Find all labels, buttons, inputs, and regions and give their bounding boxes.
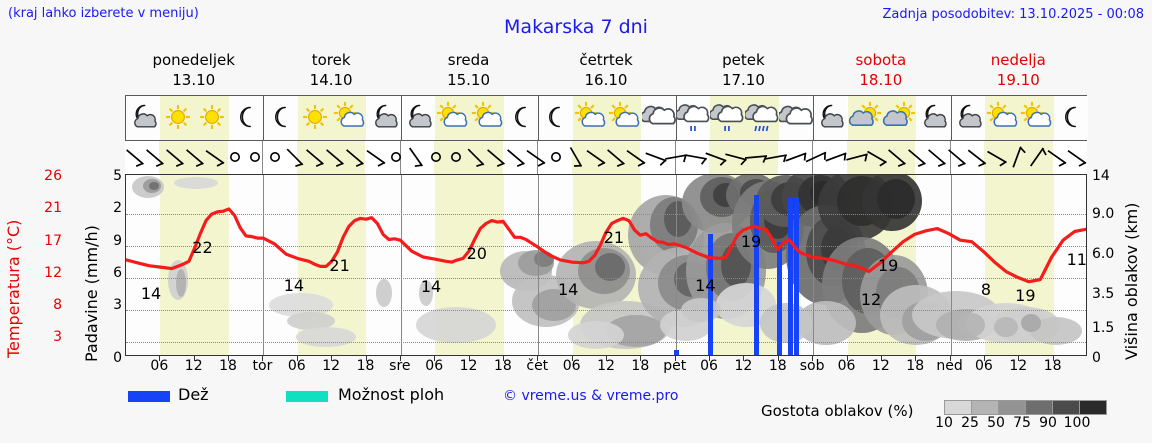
temperature-tick: 3 [44, 329, 62, 345]
precipitation-tick: 3 [100, 297, 122, 313]
cloud-drizzle-icon [710, 96, 744, 140]
wind-barb [465, 143, 487, 171]
cloud-icon [641, 96, 675, 140]
precipitation-tick: 5 [100, 168, 122, 184]
sun-cloud-icon [1019, 96, 1053, 140]
temperature-line [126, 175, 1086, 355]
precipitation-tick: 6 [100, 265, 122, 281]
day-date: 19.10 [950, 70, 1087, 90]
temperature-value-label: 19 [1015, 286, 1035, 305]
temperature-value-label: 22 [192, 238, 212, 257]
x-axis-tick-mark [812, 356, 813, 361]
day-name: sreda [400, 50, 537, 70]
moon-icon [229, 96, 263, 140]
x-axis-tick-mark [709, 356, 710, 361]
sun-cloud-icon [332, 96, 366, 140]
wind-barb [164, 143, 186, 171]
wind-barb [765, 143, 787, 171]
x-axis-tick-mark [606, 356, 607, 361]
wind-barb [385, 143, 407, 171]
x-axis-tick-mark [434, 356, 435, 361]
wind-barb [745, 143, 767, 171]
moon-icon [1054, 96, 1088, 140]
x-axis-tick-mark [881, 356, 882, 361]
day-name: ponedeljek [125, 50, 262, 70]
day-name: petek [675, 50, 812, 70]
sun-cloud-icon [435, 96, 469, 140]
day-header-1: torek14.10 [262, 50, 399, 94]
weather-icon-strip [125, 95, 1087, 141]
cloud-rain-icon [744, 96, 778, 140]
x-axis-tick-mark [400, 356, 401, 361]
showers-legend-label: Možnost ploh [338, 385, 444, 404]
day-name: četrtek [537, 50, 674, 70]
cloud-sun-icon [848, 96, 882, 140]
cloud-density-swatch [998, 400, 1025, 415]
x-axis-tick-mark [297, 356, 298, 361]
wind-barb [284, 143, 306, 171]
day-name: nedelja [950, 50, 1087, 70]
wind-barb [946, 143, 968, 171]
wind-barb [705, 143, 727, 171]
sun-cloud-icon [470, 96, 504, 140]
cloud-density-value: 100 [1061, 415, 1093, 431]
temperature-axis-title: Temperatura (°C) [4, 168, 23, 358]
sun-cloud-icon [985, 96, 1019, 140]
moon-cloud-icon [367, 96, 401, 140]
sun-cloud-icon [607, 96, 641, 140]
day-name: sobota [812, 50, 949, 70]
x-axis-tick-mark [778, 356, 779, 361]
wind-barb [725, 143, 747, 171]
wind-barb [505, 143, 527, 171]
wind-barb [926, 143, 948, 171]
cloud-density-value: 50 [983, 415, 1009, 431]
day-name: torek [262, 50, 399, 70]
wind-barb [244, 143, 266, 171]
x-axis-tick-mark [469, 356, 470, 361]
wind-barb [585, 143, 607, 171]
rain-legend-label: Dež [178, 385, 209, 404]
moon-icon [538, 96, 572, 140]
cloud-density-swatch [1079, 400, 1107, 415]
wind-barb [204, 143, 226, 171]
precipitation-tick: 0 [100, 350, 122, 366]
wind-barb [846, 143, 868, 171]
temperature-tick: 8 [44, 297, 62, 313]
cloud-density-value: 90 [1035, 415, 1061, 431]
temperature-value-label: 20 [467, 244, 487, 263]
moon-cloud-icon [126, 96, 160, 140]
icon-day-separator [676, 96, 677, 140]
wind-barb [886, 143, 908, 171]
x-axis-tick-mark [503, 356, 504, 361]
wind-barb [1026, 143, 1048, 171]
day-header-4: petek17.10 [675, 50, 812, 94]
moon-icon [263, 96, 297, 140]
temperature-value-label: 14 [141, 284, 161, 303]
icon-day-separator [951, 96, 952, 140]
wind-barb [304, 143, 326, 171]
wind-barb [805, 143, 827, 171]
wind-barb [425, 143, 447, 171]
wind-barb [986, 143, 1008, 171]
moon-icon [504, 96, 538, 140]
temperature-value-label: 12 [861, 290, 881, 309]
wind-barb [605, 143, 627, 171]
temperature-value-label: 21 [604, 228, 624, 247]
icon-day-separator [401, 96, 402, 140]
temperature-value-label: 14 [695, 276, 715, 295]
wind-barb [344, 143, 366, 171]
sun-cloud-icon [573, 96, 607, 140]
day-header-strip: ponedeljek13.10torek14.10sreda15.10četrt… [125, 50, 1087, 94]
wind-barb [224, 143, 246, 171]
wind-barb [485, 143, 507, 171]
day-date: 14.10 [262, 70, 399, 90]
forecast-plot[interactable]: 14221421142014211419121981911 [125, 174, 1087, 356]
icon-day-separator [538, 96, 539, 140]
precipitation-axis-title: Padavine (mm/h) [82, 172, 101, 362]
cloud-density-title: Gostota oblakov (%) [761, 402, 914, 420]
cloud-height-tick: 14 [1092, 168, 1110, 184]
cloud-drizzle-icon [676, 96, 710, 140]
wind-barb [906, 143, 928, 171]
x-axis-tick-mark [228, 356, 229, 361]
wind-barb [866, 143, 888, 171]
day-header-5: sobota18.10 [812, 50, 949, 94]
x-axis-tick-mark [915, 356, 916, 361]
x-axis-tick-mark [743, 356, 744, 361]
wind-barb [445, 143, 467, 171]
x-axis-tick-mark [847, 356, 848, 361]
wind-barb [365, 143, 387, 171]
cloud-height-axis-title: Višina oblakov (km) [1122, 168, 1141, 360]
cloud-density-swatch [1052, 400, 1079, 415]
wind-barb [1066, 143, 1088, 171]
x-axis-tick-mark [366, 356, 367, 361]
wind-barb [825, 143, 847, 171]
wind-barb-strip [125, 141, 1087, 174]
precipitation-tick: 2 [100, 200, 122, 216]
x-axis-tick-mark [159, 356, 160, 361]
x-axis-tick-mark [675, 356, 676, 361]
x-axis-tick-mark [262, 356, 263, 361]
copyright-link[interactable]: © vreme.us & vreme.pro [503, 388, 678, 404]
x-axis-tick-mark [1053, 356, 1054, 361]
temperature-value-label: 11 [1067, 250, 1087, 269]
cloud-height-tick: 1.5 [1092, 320, 1114, 336]
day-date: 18.10 [812, 70, 949, 90]
wind-barb [124, 143, 146, 171]
day-header-0: ponedeljek13.10 [125, 50, 262, 94]
cloud-sun-icon [882, 96, 916, 140]
cloud-density-swatch [944, 400, 971, 415]
day-date: 15.10 [400, 70, 537, 90]
wind-barb [264, 143, 286, 171]
temperature-tick: 26 [44, 168, 62, 184]
sun-icon [160, 96, 194, 140]
temperature-tick: 21 [44, 200, 62, 216]
cloud-height-tick: 9.0 [1092, 206, 1114, 222]
cloud-density-value: 10 [931, 415, 957, 431]
wind-barb [184, 143, 206, 171]
wind-barb [1046, 143, 1068, 171]
wind-barb [405, 143, 427, 171]
moon-cloud-icon [951, 96, 985, 140]
wind-barb [144, 143, 166, 171]
cloud-density-swatch [1025, 400, 1052, 415]
wind-barb [545, 143, 567, 171]
moon-cloud-icon [813, 96, 847, 140]
wind-barb [625, 143, 647, 171]
icon-day-separator [263, 96, 264, 140]
icon-day-separator [813, 96, 814, 140]
wind-barb [645, 143, 667, 171]
wind-barb [525, 143, 547, 171]
x-axis-tick-mark [950, 356, 951, 361]
cloud-height-tick: 3.5 [1092, 286, 1114, 302]
sun-icon [298, 96, 332, 140]
temperature-value-label: 14 [284, 276, 304, 295]
temperature-tick: 12 [44, 265, 62, 281]
wind-barb [1006, 143, 1028, 171]
day-date: 17.10 [675, 70, 812, 90]
chart-legend: Dež Možnost ploh © vreme.us & vreme.pro … [0, 385, 1152, 431]
temperature-value-label: 19 [741, 232, 761, 251]
cloud-density-swatch [971, 400, 998, 415]
cloud-height-tick: 0 [1092, 350, 1101, 366]
cloud-density-value: 75 [1009, 415, 1035, 431]
wind-barb [665, 143, 687, 171]
cloud-density-value: 25 [957, 415, 983, 431]
day-header-3: četrtek16.10 [537, 50, 674, 94]
precipitation-tick: 9 [100, 233, 122, 249]
temperature-value-label: 14 [421, 277, 441, 296]
x-axis-tick-mark [1018, 356, 1019, 361]
moon-cloud-icon [401, 96, 435, 140]
wind-barb [324, 143, 346, 171]
cloud-density-scale-bar [944, 400, 1107, 415]
last-update-label: Zadnja posodobitev: 13.10.2025 - 00:08 [882, 7, 1144, 22]
sun-icon [195, 96, 229, 140]
cloud-density-scale-values: 1025507590100 [931, 415, 1093, 431]
x-axis-tick-mark [194, 356, 195, 361]
temperature-value-label: 19 [878, 256, 898, 275]
day-header-2: sreda15.10 [400, 50, 537, 94]
x-axis-tick-mark [572, 356, 573, 361]
cloud-height-tick: 6.0 [1092, 246, 1114, 262]
day-header-6: nedelja19.10 [950, 50, 1087, 94]
showers-legend-swatch [286, 391, 328, 402]
x-axis-tick-mark [537, 356, 538, 361]
rain-legend-swatch [128, 391, 170, 402]
x-axis-tick-mark [640, 356, 641, 361]
wind-barb [685, 143, 707, 171]
temperature-value-label: 14 [558, 280, 578, 299]
wind-barb [785, 143, 807, 171]
day-date: 16.10 [537, 70, 674, 90]
temperature-value-label: 21 [329, 256, 349, 275]
x-axis-tick-mark [984, 356, 985, 361]
temperature-tick: 17 [44, 233, 62, 249]
temperature-value-label: 8 [981, 280, 991, 299]
wind-barb [565, 143, 587, 171]
moon-cloud-icon [916, 96, 950, 140]
day-date: 13.10 [125, 70, 262, 90]
x-axis-tick-mark [331, 356, 332, 361]
wind-barb [966, 143, 988, 171]
cloud-icon [779, 96, 813, 140]
